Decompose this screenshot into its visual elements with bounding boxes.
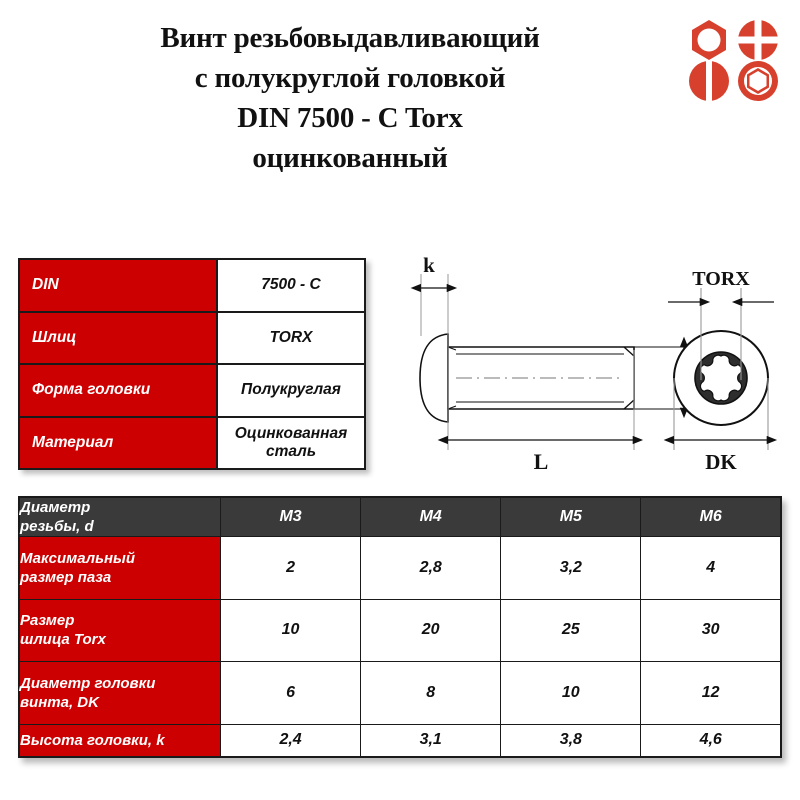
spec-row: Материал Оцинкованная сталь <box>20 418 364 469</box>
cell-head-height-m5: 3,8 <box>501 724 641 757</box>
title-line-3: DIN 7500 - C Torx <box>60 98 640 138</box>
table-row: Диаметр головки винта, DK 6 8 10 12 <box>19 662 781 725</box>
column-header-m6: M6 <box>641 497 781 537</box>
title-line-4: оцинкованный <box>60 138 640 178</box>
row-label-line-1: Максимальный <box>20 549 220 568</box>
spec-table: DIN 7500 - C Шлиц TORX Форма головки Пол… <box>18 258 366 470</box>
screw-tip-chamfer <box>624 347 634 409</box>
column-header-m5: M5 <box>501 497 641 537</box>
spec-key-head-shape: Форма головки <box>20 365 218 416</box>
technical-drawing: k d L <box>396 250 792 476</box>
column-header-m4: M4 <box>361 497 501 537</box>
row-label-head-height: Высота головки, k <box>19 724 221 757</box>
drawing-svg: k d L <box>396 250 792 476</box>
cell-head-height-m4: 3,1 <box>361 724 501 757</box>
slotted-head-icon <box>689 61 729 101</box>
title-line-2: с полукруглой головкой <box>60 58 640 98</box>
row-label-line-2: шлица Torx <box>20 630 220 649</box>
row-label-line-2: винта, DK <box>20 693 220 712</box>
corner-label-line-1: Диаметр <box>20 498 220 517</box>
hex-socket-head-icon <box>738 61 778 101</box>
cell-head-height-m6: 4,6 <box>641 724 781 757</box>
dimension-label-L: L <box>534 449 549 474</box>
table-row: Размер шлица Torx 10 20 25 30 <box>19 599 781 662</box>
header: Винт резьбовыдавливающий с полукруглой г… <box>0 0 800 200</box>
dimension-k <box>421 274 448 336</box>
title-line-1: Винт резьбовыдавливающий <box>60 18 640 58</box>
cell-head-height-m3: 2,4 <box>221 724 361 757</box>
cell-torx-size-m5: 25 <box>501 599 641 662</box>
table-row: Максимальный размер паза 2 2,8 3,2 4 <box>19 537 781 600</box>
table-corner-label: Диаметр резьбы, d <box>19 497 221 537</box>
dimension-label-torx: TORX <box>692 268 750 290</box>
row-label-line-2: размер паза <box>20 568 220 587</box>
spec-sheet-page: Винт резьбовыдавливающий с полукруглой г… <box>0 0 800 800</box>
row-label-torx-size: Размер шлица Torx <box>19 599 221 662</box>
spec-value-din: 7500 - C <box>218 260 364 311</box>
spec-key-drive: Шлиц <box>20 313 218 364</box>
spec-key-din: DIN <box>20 260 218 311</box>
cell-max-slot-m3: 2 <box>221 537 361 600</box>
screw-head-profile <box>420 334 448 422</box>
cell-head-diameter-m6: 12 <box>641 662 781 725</box>
row-label-head-diameter: Диаметр головки винта, DK <box>19 662 221 725</box>
table-row: Высота головки, k 2,4 3,1 3,8 4,6 <box>19 724 781 757</box>
row-label-line-1: Диаметр головки <box>20 674 220 693</box>
screw-side-view <box>420 334 634 422</box>
page-title: Винт резьбовыдавливающий с полукруглой г… <box>60 18 640 178</box>
spec-value-drive: TORX <box>218 313 364 364</box>
spec-row: Шлиц TORX <box>20 313 364 366</box>
cell-torx-size-m6: 30 <box>641 599 781 662</box>
corner-label-line-2: резьбы, d <box>20 517 220 536</box>
cell-head-diameter-m3: 6 <box>221 662 361 725</box>
cell-max-slot-m5: 3,2 <box>501 537 641 600</box>
cell-torx-size-m4: 20 <box>361 599 501 662</box>
spec-row: DIN 7500 - C <box>20 260 364 313</box>
dimension-label-k: k <box>423 253 435 277</box>
row-label-max-slot-size: Максимальный размер паза <box>19 537 221 600</box>
screw-top-view <box>674 331 768 425</box>
cell-head-diameter-m5: 10 <box>501 662 641 725</box>
hex-head-icon <box>692 20 726 60</box>
row-label-line-1: Высота головки, k <box>20 731 220 750</box>
spec-key-material: Материал <box>20 418 218 469</box>
column-header-m3: M3 <box>221 497 361 537</box>
cross-slot-head-icon <box>738 20 778 60</box>
table-header-row: Диаметр резьбы, d M3 M4 M5 M6 <box>19 497 781 537</box>
cell-torx-size-m3: 10 <box>221 599 361 662</box>
fastener-heads-logo <box>688 18 780 102</box>
spec-row: Форма головки Полукруглая <box>20 365 364 418</box>
spec-value-head-shape: Полукруглая <box>218 365 364 416</box>
cell-max-slot-m6: 4 <box>641 537 781 600</box>
cell-max-slot-m4: 2,8 <box>361 537 501 600</box>
spec-value-material: Оцинкованная сталь <box>218 418 364 469</box>
cell-head-diameter-m4: 8 <box>361 662 501 725</box>
row-label-line-1: Размер <box>20 611 220 630</box>
dimensions-table: Диаметр резьбы, d M3 M4 M5 M6 Максимальн… <box>18 496 782 758</box>
dimension-label-dk: DK <box>705 450 737 474</box>
